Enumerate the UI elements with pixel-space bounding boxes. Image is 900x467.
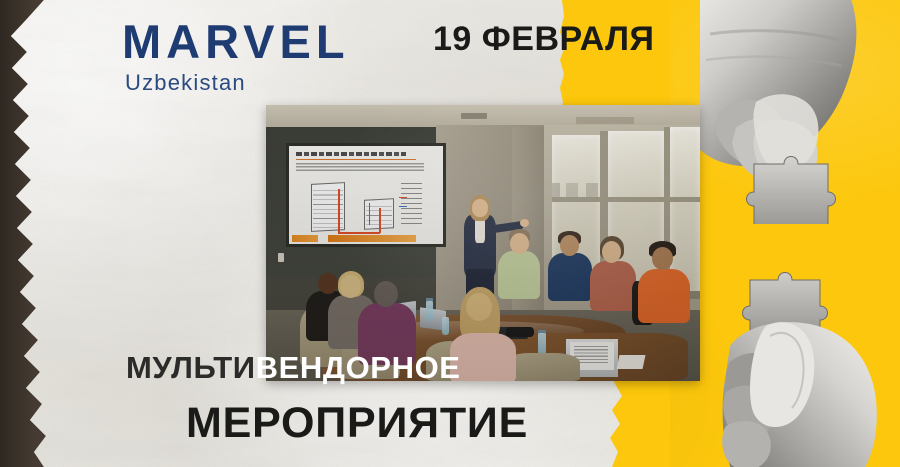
slide-legend-blue-key — [399, 206, 407, 207]
ceiling-light — [576, 117, 634, 124]
headline-line-1-part-1: МУЛЬТИ — [126, 350, 256, 385]
slide-diagram-red-cable — [338, 232, 380, 234]
headline-line-1: МУЛЬТИВЕНДОРНОЕ — [126, 352, 461, 383]
presenter-head — [472, 199, 488, 217]
water-bottle — [538, 333, 546, 355]
slide-title-text — [296, 152, 406, 156]
water-bottle — [426, 301, 433, 321]
hand-holding-puzzle-piece-top — [700, 0, 900, 224]
attendee-head — [602, 241, 621, 263]
attendee-head — [466, 293, 492, 321]
attendee-head — [652, 247, 673, 270]
headline-line-1-part-2: ВЕНДОРНОЕ — [256, 350, 461, 385]
attendee-body — [590, 261, 636, 311]
attendee-body — [638, 269, 690, 323]
slide-legend — [401, 183, 422, 227]
attendee-head — [340, 275, 361, 298]
slide-diagram-red-cable — [379, 208, 381, 233]
headline-line-2: МЕРОПРИЯТИЕ — [186, 402, 528, 445]
hand-holding-puzzle-piece-bottom — [700, 250, 900, 467]
slide-diagram-red-cable — [338, 189, 340, 233]
attendee-head — [374, 281, 398, 307]
presenter-hand — [520, 219, 529, 227]
slide-divider — [296, 159, 416, 160]
slide-footer-bar — [328, 235, 416, 242]
attendee-body — [548, 253, 592, 301]
attendee-head — [560, 235, 579, 256]
event-date: 19 ФЕВРАЛЯ — [433, 22, 654, 56]
attendee-head — [318, 273, 338, 294]
slide-footer-bar — [292, 235, 318, 242]
slide-body-text — [296, 163, 424, 172]
attendee-head — [510, 233, 529, 254]
ceiling-vent — [461, 113, 487, 119]
event-banner: MARVEL Uzbekistan 19 ФЕВРАЛЯ — [0, 0, 900, 467]
brand-name: MARVEL — [122, 18, 350, 65]
conference-phone — [506, 327, 534, 337]
brand-logo: MARVEL Uzbekistan — [122, 18, 350, 94]
notepad — [617, 355, 646, 369]
window-mullion — [552, 197, 700, 202]
attendee-body — [498, 251, 540, 299]
conference-room-photo — [266, 105, 700, 381]
slide-legend-red-key — [399, 197, 407, 198]
slide-diagram-blue-cable — [369, 203, 370, 225]
wall-outlet — [278, 253, 284, 262]
water-bottle — [442, 317, 449, 335]
brand-region: Uzbekistan — [125, 72, 350, 94]
